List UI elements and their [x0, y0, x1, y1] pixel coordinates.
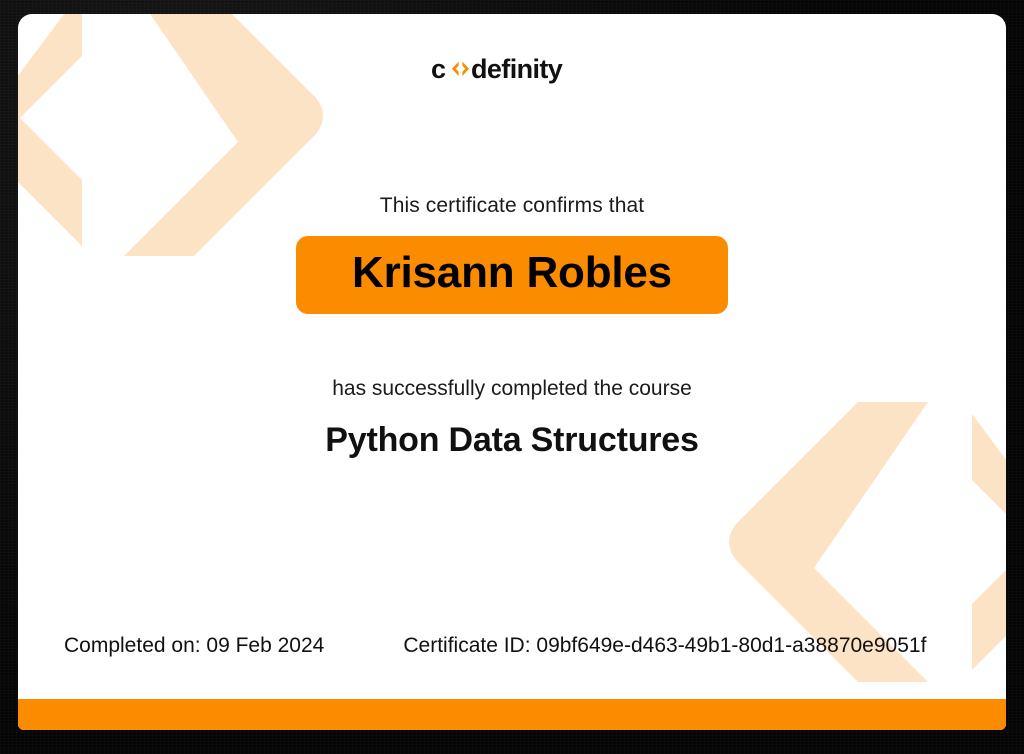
- course-completion-line: has successfully completed the course: [332, 377, 692, 401]
- certificate-card: c definity This certificate confirms tha…: [18, 14, 1006, 730]
- svg-text:definity: definity: [471, 54, 563, 84]
- completed-on-text: Completed on: 09 Feb 2024: [64, 634, 324, 658]
- brand-logo: c definity: [431, 52, 593, 86]
- course-title: Python Data Structures: [325, 421, 698, 460]
- svg-text:c: c: [431, 54, 446, 84]
- certificate-frame: c definity This certificate confirms tha…: [0, 0, 1024, 754]
- codefinity-chevron-diamond-icon: [452, 62, 469, 76]
- recipient-name-banner: Krisann Robles: [296, 236, 728, 314]
- confirm-line: This certificate confirms that: [380, 194, 644, 218]
- footer-meta: Completed on: 09 Feb 2024 Certificate ID…: [18, 634, 1006, 658]
- certificate-id-text: Certificate ID: 09bf649e-d463-49b1-80d1-…: [403, 634, 926, 658]
- recipient-name: Krisann Robles: [352, 250, 672, 296]
- certificate-content: c definity This certificate confirms tha…: [18, 14, 1006, 730]
